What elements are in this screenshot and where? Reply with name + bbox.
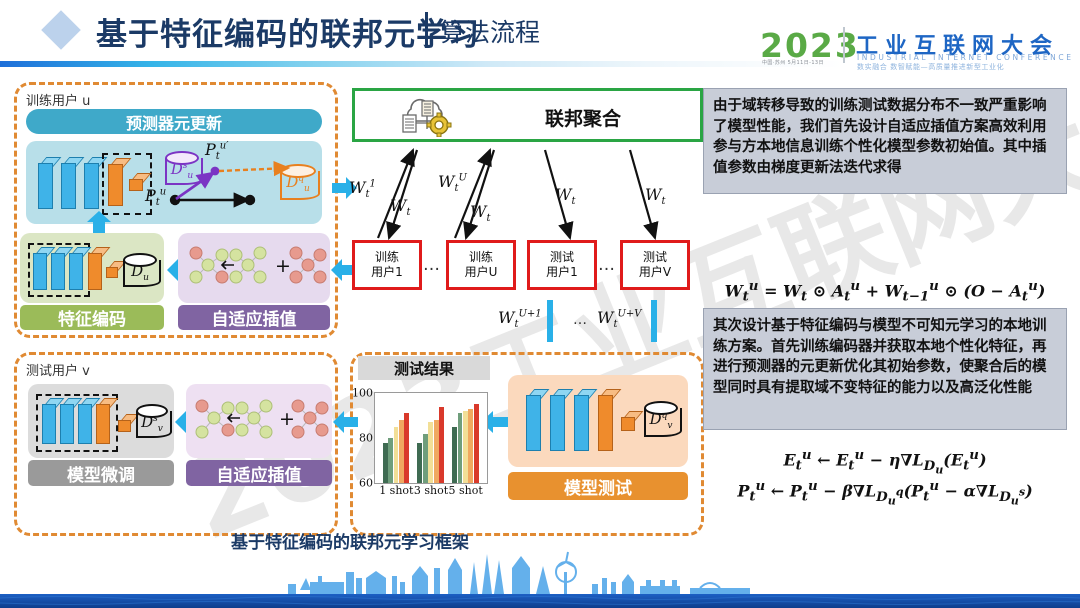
model-finetune-caption: 模型微调 [28, 460, 174, 486]
feature-encoding-caption: 特征编码 [20, 305, 164, 330]
arrow-left-cyan [332, 410, 358, 438]
adaptive-interpolation-panel: + [178, 233, 330, 303]
layer-bar-blue [69, 247, 81, 290]
chart-y-tick: 80 [359, 432, 373, 445]
chart-bar [474, 404, 479, 483]
layer-bar-orange [88, 247, 100, 290]
interpolation-graph-icon: + [186, 384, 332, 458]
layer-bar-orange-small [118, 414, 129, 432]
conference-logo: 2023 中国·苏州 5月11日-13日 工业互联网大会 INDUSTRIAL … [760, 28, 1060, 70]
layer-bar-blue [550, 389, 563, 451]
chart-y-tick: 100 [352, 387, 373, 400]
layer-bar-orange-small [129, 173, 141, 191]
chart-bar [463, 411, 468, 483]
label-pt-u: Ptu [145, 186, 166, 208]
chart-bar [399, 420, 404, 483]
dataset-cylinder-dv-q: Dqv [644, 401, 678, 437]
user-line2: 用户1 [371, 265, 403, 280]
text-panel-1: 由于域转移导致的训练测试数据分布不一致严重影响了模型性能，我们首先设计自适应插值… [703, 88, 1067, 194]
slide-root: 基于特征编码的联邦元学习 算法流程 2023 中国·苏州 5月11日-13日 工… [0, 0, 1080, 608]
user-box-train-U: 训练 用户U [446, 240, 516, 290]
layer-bar-blue [78, 398, 90, 444]
logo-name-en: INDUSTRIAL INTERNET CONFERENCE [857, 53, 1074, 62]
svg-text:+: + [275, 255, 291, 277]
user-line1: 测试 [643, 250, 667, 265]
chart-bar [388, 438, 393, 483]
logo-tagline: 数实融合 数智赋能—高质量推进新型工业化 [857, 62, 1004, 72]
logo-divider [843, 27, 845, 63]
layer-bar-blue [51, 247, 63, 290]
svg-text:+: + [279, 408, 295, 430]
layer-bar-orange [108, 158, 121, 206]
formula-2: Etu ← Etu − η∇LDu(Etu) [703, 447, 1067, 476]
label-wt-a: Wt [390, 196, 410, 218]
layer-bar-blue [574, 389, 587, 451]
skyline-decoration [0, 548, 1080, 608]
label-wt-UV: WtU+V [597, 308, 642, 330]
dataset-cylinder-dv-s: Dsv [136, 404, 168, 438]
user-line2: 用户U [465, 265, 498, 280]
test-user-label: 测试用户 v [26, 360, 90, 379]
dataset-cylinder-du-s: Dsu [165, 151, 199, 185]
label-wt-1: Wt1 [349, 178, 376, 200]
layer-bar-blue [526, 389, 539, 451]
user-line1: 训练 [375, 250, 399, 265]
chart-bar [434, 420, 439, 483]
model-finetune-panel: Dsv [28, 384, 174, 458]
user-line2: 用户1 [546, 265, 578, 280]
adaptive-interpolation-panel-2: + [186, 384, 332, 458]
page-title: 基于特征编码的联邦元学习 [96, 9, 480, 54]
ellipsis-train: … [423, 255, 442, 275]
ellipsis-test: … [598, 255, 617, 275]
chart-bar [428, 422, 433, 483]
dataset-cylinder-du: Du [123, 253, 157, 287]
feature-encoding-panel: Du [20, 233, 164, 303]
adaptive-interpolation-caption-2: 自适应插值 [186, 460, 332, 486]
predictor-meta-update-panel: Dsu Dqu [26, 141, 322, 224]
train-user-label: 训练用户 u [26, 90, 90, 109]
logo-dateline: 中国·苏州 5月11日-13日 [762, 59, 824, 66]
predictor-meta-update-bar: 预测器元更新 [26, 109, 322, 134]
chart-x-tick: 1 shot [379, 484, 413, 497]
layer-bar-orange [96, 398, 108, 444]
interpolation-graph-icon: + [178, 233, 330, 303]
label-wt-U: WtU [438, 172, 467, 194]
arrow-down-cyan [544, 300, 556, 346]
text-panel-2: 其次设计基于特征编码与模型不可知元学习的本地训练方案。首先训练编码器并获取本地个… [703, 308, 1067, 430]
user-line1: 训练 [469, 250, 493, 265]
label-wt-U1: WtU+1 [498, 308, 542, 330]
layer-bar-orange-small [621, 411, 633, 431]
dataset-cylinder-du-q: Dqu [280, 164, 316, 200]
layer-bar-blue [42, 398, 54, 444]
user-line1: 测试 [550, 250, 574, 265]
user-box-test-V: 测试 用户V [620, 240, 690, 290]
label-wt-b: Wt [470, 202, 490, 224]
user-box-train-1: 训练 用户1 [352, 240, 422, 290]
chart-bar [394, 427, 399, 483]
layer-bar-blue [84, 157, 97, 209]
test-results-chart: 60801001 shot3 shot5 shot [374, 392, 488, 484]
label-wt-d: Wt [645, 185, 665, 207]
adaptive-interpolation-caption: 自适应插值 [178, 305, 330, 330]
user-line2: 用户V [639, 265, 671, 280]
ellipsis-weights: … [573, 312, 589, 328]
layer-bar-blue [33, 247, 45, 290]
chart-bar [383, 443, 388, 484]
chart-y-tick: 60 [359, 477, 373, 490]
chart-bar [468, 409, 473, 483]
chart-bar [439, 407, 444, 484]
diamond-icon [41, 10, 81, 50]
label-wt-c: Wt [555, 185, 575, 207]
label-pt-u-prime: Ptu′ [205, 140, 229, 162]
model-test-panel: Dqv [508, 375, 688, 467]
arrow-down-cyan [648, 300, 660, 346]
page-subtitle: 算法流程 [440, 13, 540, 49]
chart-bar [404, 413, 409, 483]
chart-bar [423, 434, 428, 484]
federated-aggregation-label: 联邦聚合 [545, 104, 621, 131]
layer-bar-blue [61, 157, 74, 209]
chart-title: 测试结果 [358, 356, 490, 380]
layer-bar-orange-small [106, 261, 116, 278]
federated-aggregation-box: 联邦聚合 [352, 88, 703, 142]
formula-1: Wtu = Wt ⊙ Atu + Wt−1u ⊙ (O − Atu) [703, 278, 1067, 305]
layer-bar-blue [38, 157, 51, 209]
layer-bar-blue [60, 398, 72, 444]
chart-bar [458, 413, 463, 483]
formula-3: Ptu ← Ptu − β∇LDuq(Ptu − α∇LDus) [703, 478, 1067, 507]
layer-bar-orange [598, 389, 611, 451]
user-box-test-1: 测试 用户1 [527, 240, 597, 290]
cloud-server-gear-icon [395, 93, 461, 137]
chart-bar [452, 427, 457, 483]
title-divider [425, 12, 428, 46]
model-test-caption: 模型测试 [508, 472, 688, 500]
chart-bar [417, 443, 422, 484]
chart-x-tick: 3 shot [414, 484, 448, 497]
chart-x-tick: 5 shot [449, 484, 483, 497]
